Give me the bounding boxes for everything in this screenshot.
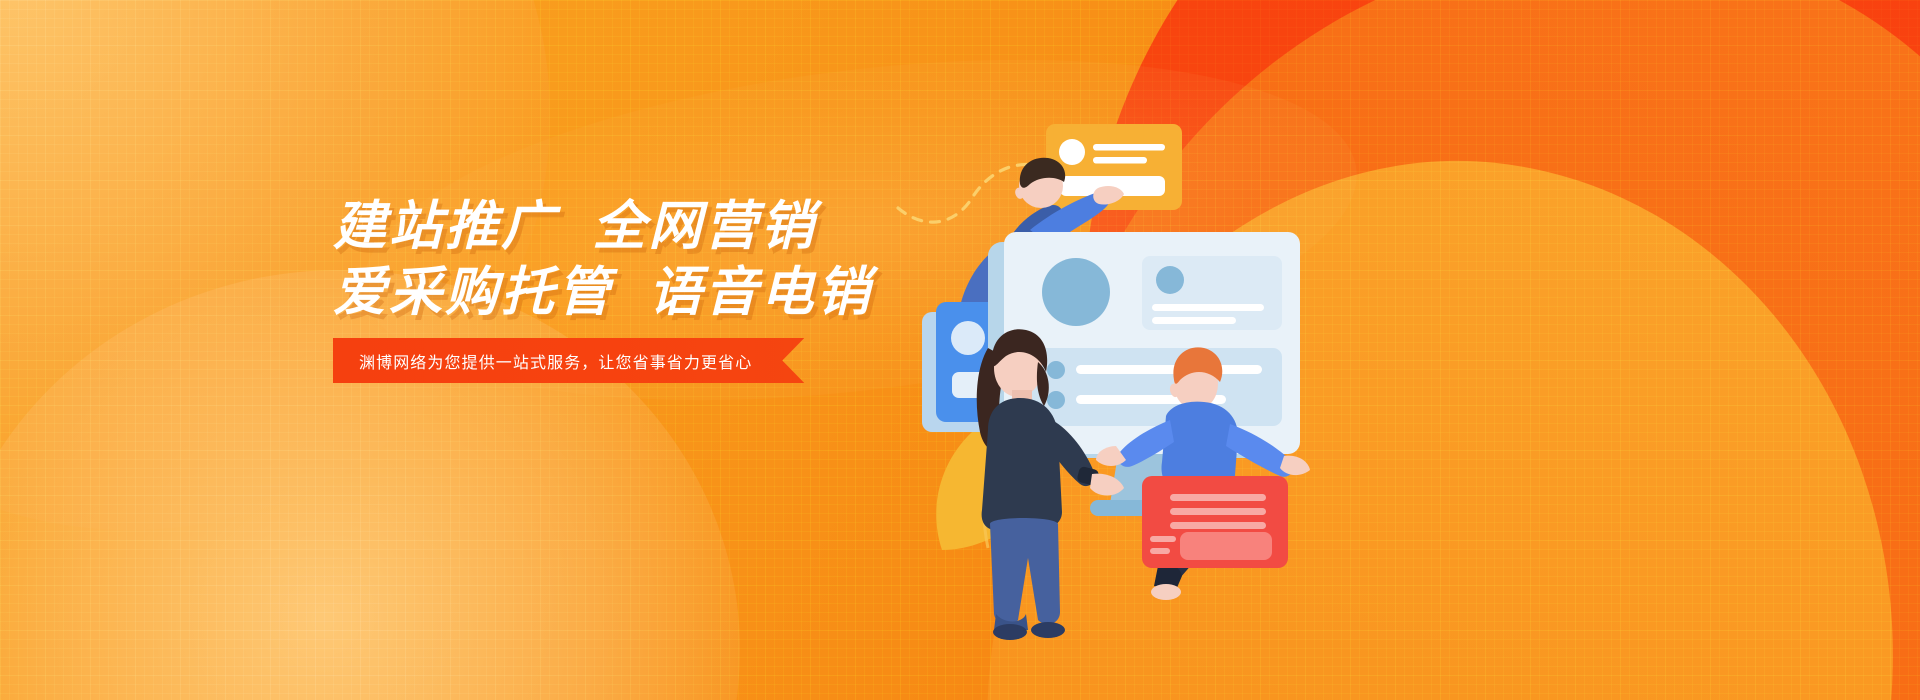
tagline-text: 渊博网络为您提供一站式服务，让您省事省力更省心 — [359, 349, 752, 373]
promo-banner: 建站推广 全网营销 爱采购托管 语音电销 渊博网络为您提供一站式服务，让您省事省… — [0, 0, 1920, 700]
background-blob-bottom-left — [0, 270, 740, 700]
red-card — [1142, 476, 1288, 568]
hero-illustration — [880, 80, 1400, 640]
tagline-ribbon: 渊博网络为您提供一站式服务，让您省事省力更省心 — [333, 338, 804, 383]
